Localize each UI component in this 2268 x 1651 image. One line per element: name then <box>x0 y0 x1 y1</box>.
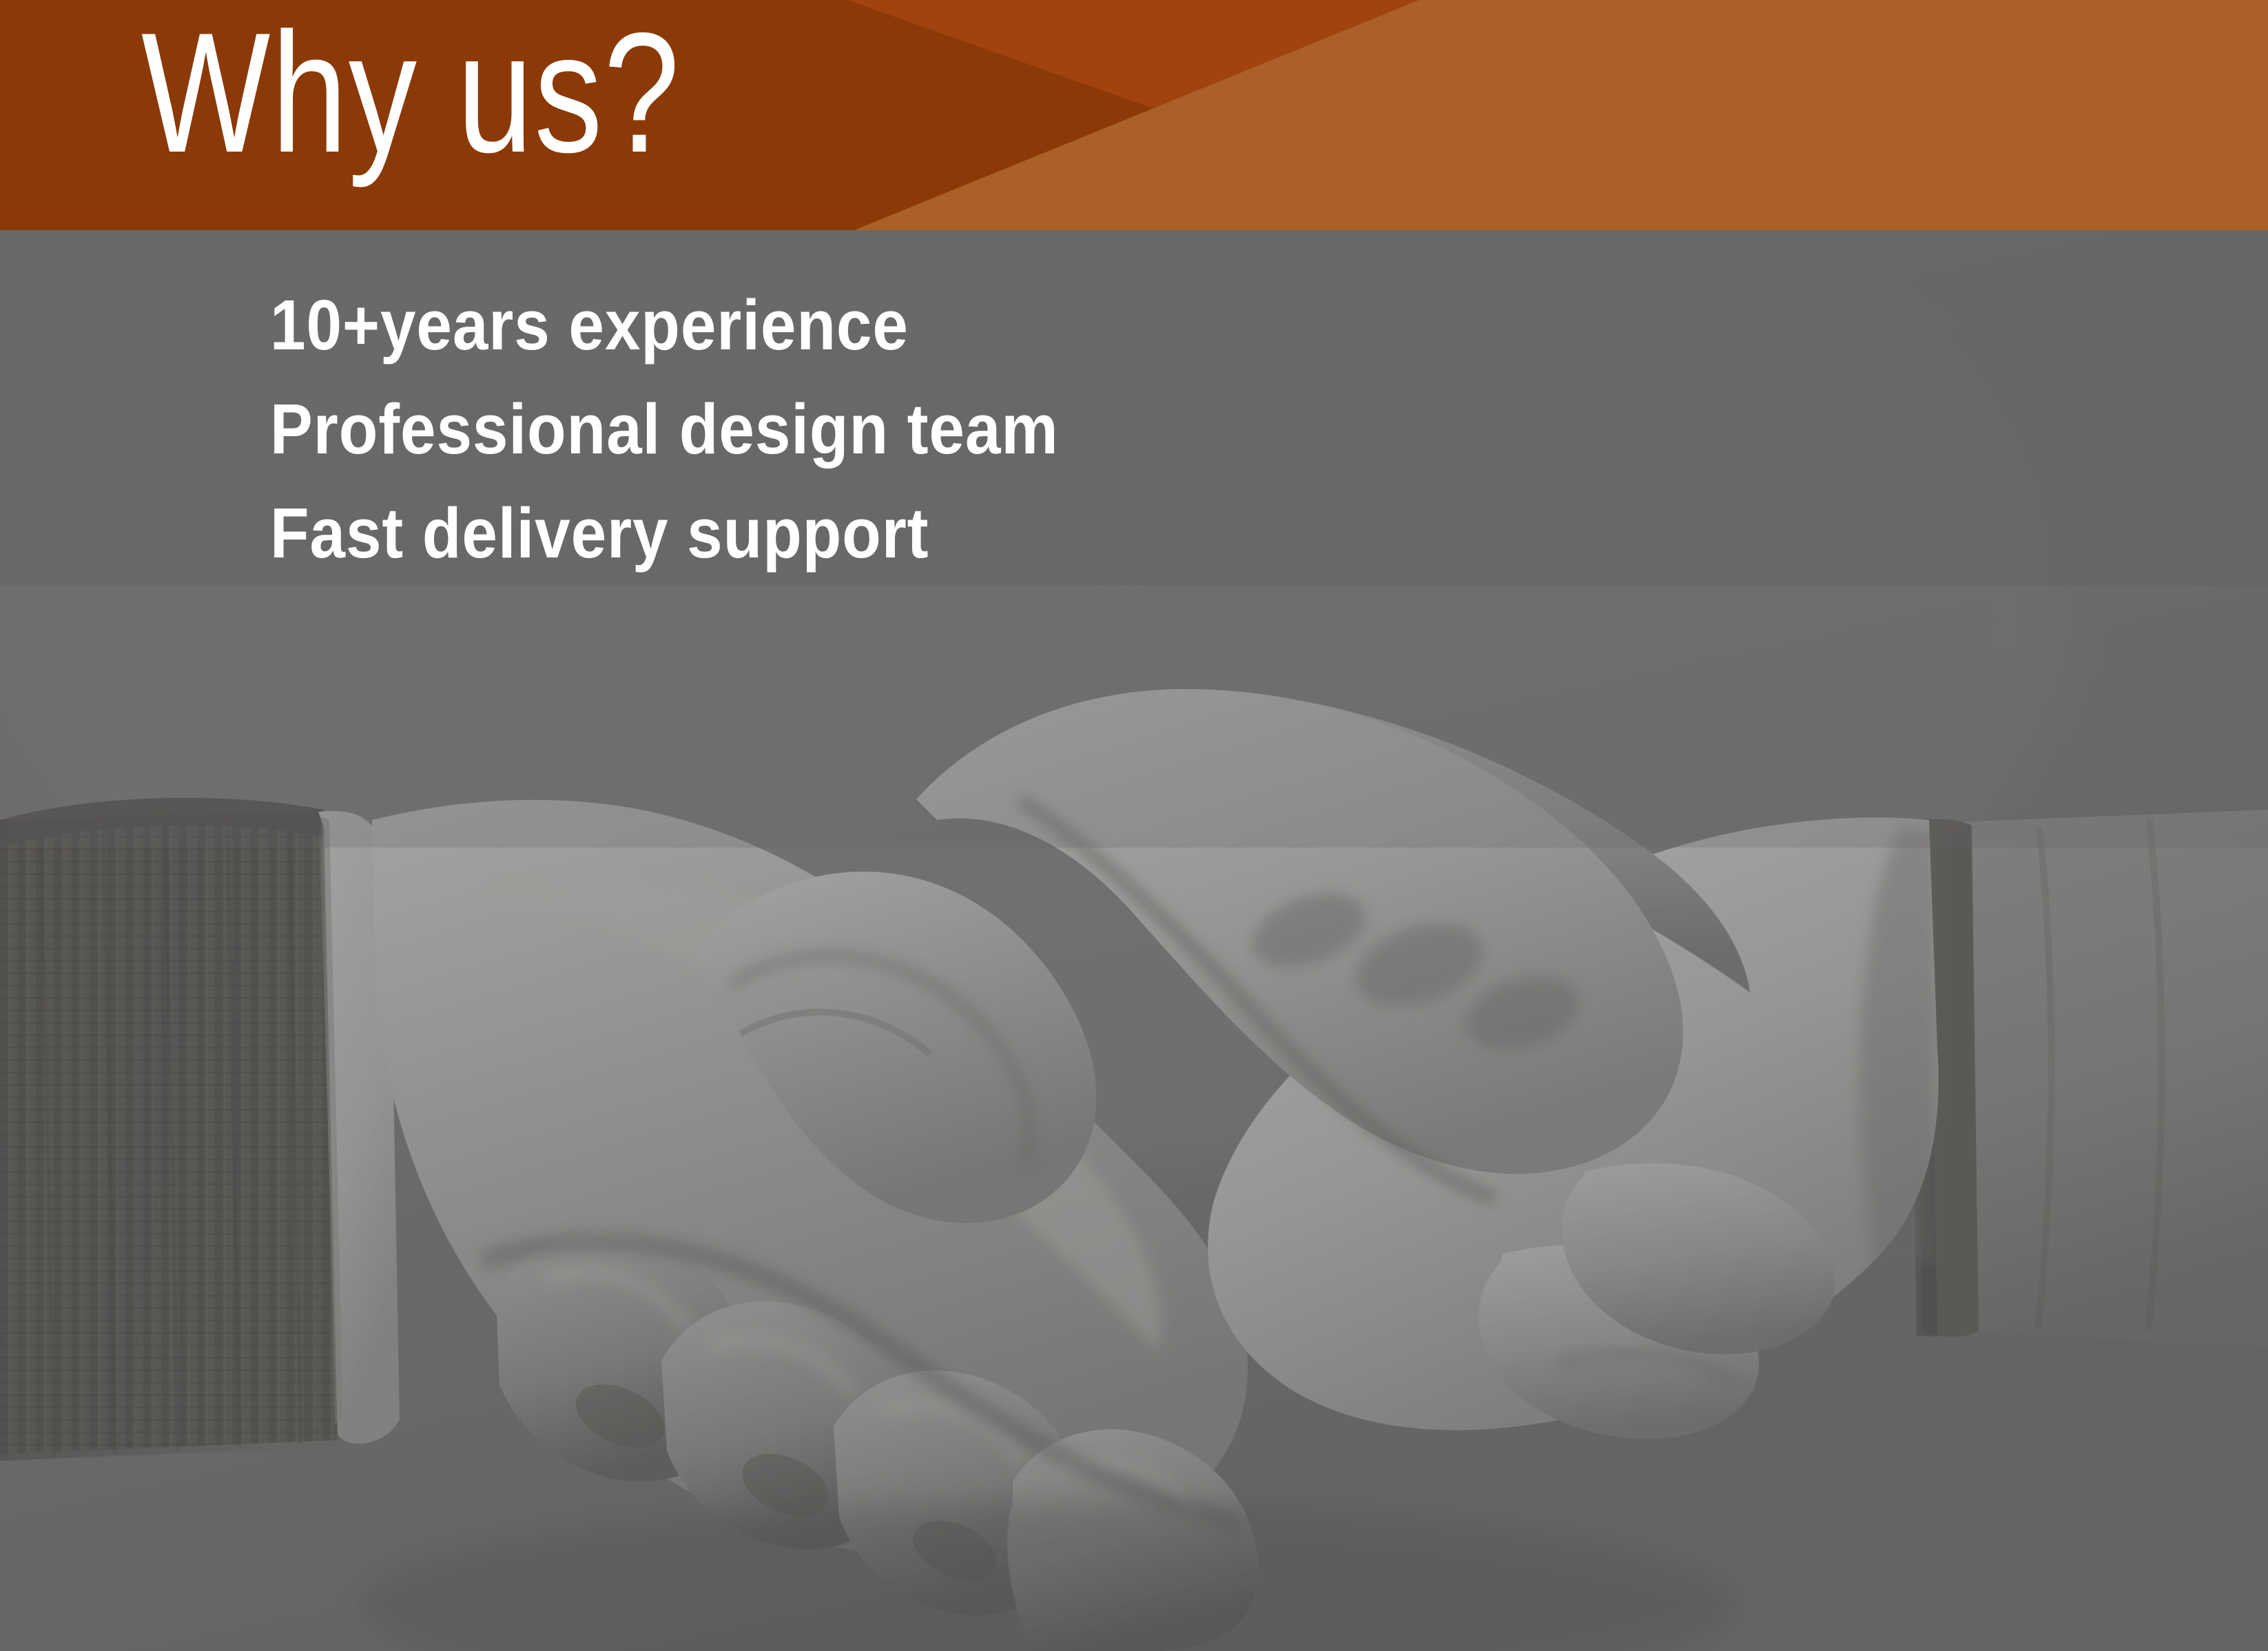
benefit-item-1: 10+years experience <box>270 289 1758 360</box>
benefits-list: 10+years experience Professional design … <box>270 289 1924 568</box>
benefit-item-2: Professional design team <box>270 393 1758 464</box>
header-band: Why us? <box>0 0 2268 230</box>
handshake-photo <box>0 0 2268 1651</box>
page-title: Why us? <box>141 4 681 182</box>
handshake-photo-illustration <box>0 0 2268 1651</box>
benefit-item-3: Fast delivery support <box>270 498 1758 568</box>
slide-why-us: Why us? 10+years experience Professional… <box>0 0 2268 1651</box>
